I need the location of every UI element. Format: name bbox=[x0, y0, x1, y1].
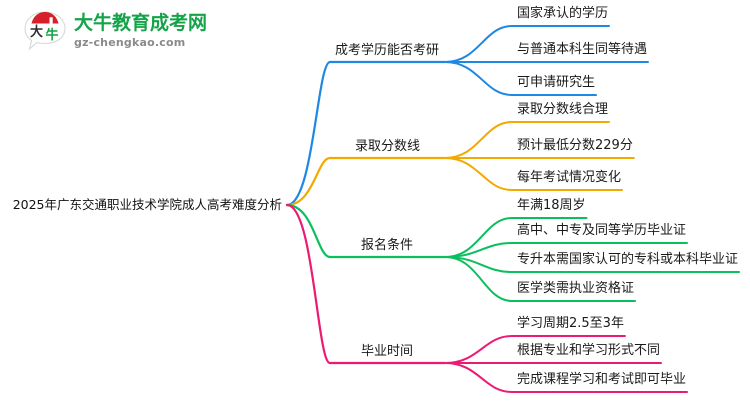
leaf-node-3-2[interactable]: 高中、中专及同等学历毕业证 bbox=[517, 224, 686, 238]
leaf-node-4-2[interactable]: 根据专业和学习形式不同 bbox=[517, 344, 660, 358]
leaf-node-3-1[interactable]: 年满18周岁 bbox=[517, 199, 586, 213]
leaf-node-4-1[interactable]: 学习周期2.5至3年 bbox=[517, 317, 624, 331]
leaf-node-3-3[interactable]: 专升本需国家认可的专科或本科毕业证 bbox=[517, 253, 738, 267]
leaf-node-4-3[interactable]: 完成课程学习和考试即可毕业 bbox=[517, 373, 686, 387]
leaf-node-1-3[interactable]: 可申请研究生 bbox=[517, 76, 595, 90]
leaf-node-3-4[interactable]: 医学类需执业资格证 bbox=[517, 282, 634, 296]
root-node-label[interactable]: 2025年广东交通职业技术学院成人高考难度分析 bbox=[13, 198, 282, 212]
leaf-node-2-3[interactable]: 每年考试情况变化 bbox=[517, 171, 621, 185]
leaf-node-1-1[interactable]: 国家承认的学历 bbox=[517, 7, 608, 21]
leaf-node-2-2[interactable]: 预计最低分数229分 bbox=[517, 139, 633, 153]
leaf-node-2-1[interactable]: 录取分数线合理 bbox=[517, 103, 608, 117]
branch-node-3[interactable]: 报名条件 bbox=[361, 239, 413, 253]
leaf-node-1-2[interactable]: 与普通本科生同等待遇 bbox=[517, 43, 647, 57]
branch-node-4[interactable]: 毕业时间 bbox=[361, 345, 413, 359]
mindmap-page: 大 牛 大牛教育成考网 gz-chengkao.com 2025年广东交通职业技… bbox=[0, 0, 750, 410]
branch-node-1[interactable]: 成考学历能否考研 bbox=[335, 44, 439, 58]
branch-node-2[interactable]: 录取分数线 bbox=[355, 140, 420, 154]
